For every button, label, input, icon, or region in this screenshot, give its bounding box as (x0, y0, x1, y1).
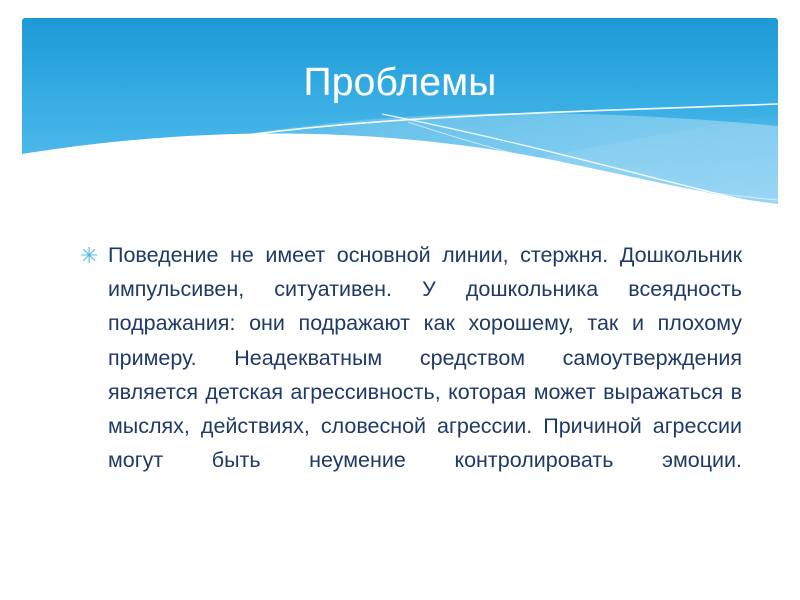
title-banner (22, 18, 778, 208)
asterisk-bullet-icon: ✳ (80, 239, 100, 273)
banner-wave-graphic (22, 18, 778, 208)
slide: Проблемы ✳ Поведение не имеет основной л… (0, 0, 800, 600)
page-title: Проблемы (22, 57, 778, 109)
list-item: ✳ Поведение не имеет основной линии, сте… (80, 238, 742, 512)
content-placeholder: ✳ Поведение не имеет основной линии, сте… (80, 238, 742, 512)
list-item-text: Поведение не имеет основной линии, стерж… (108, 238, 742, 512)
